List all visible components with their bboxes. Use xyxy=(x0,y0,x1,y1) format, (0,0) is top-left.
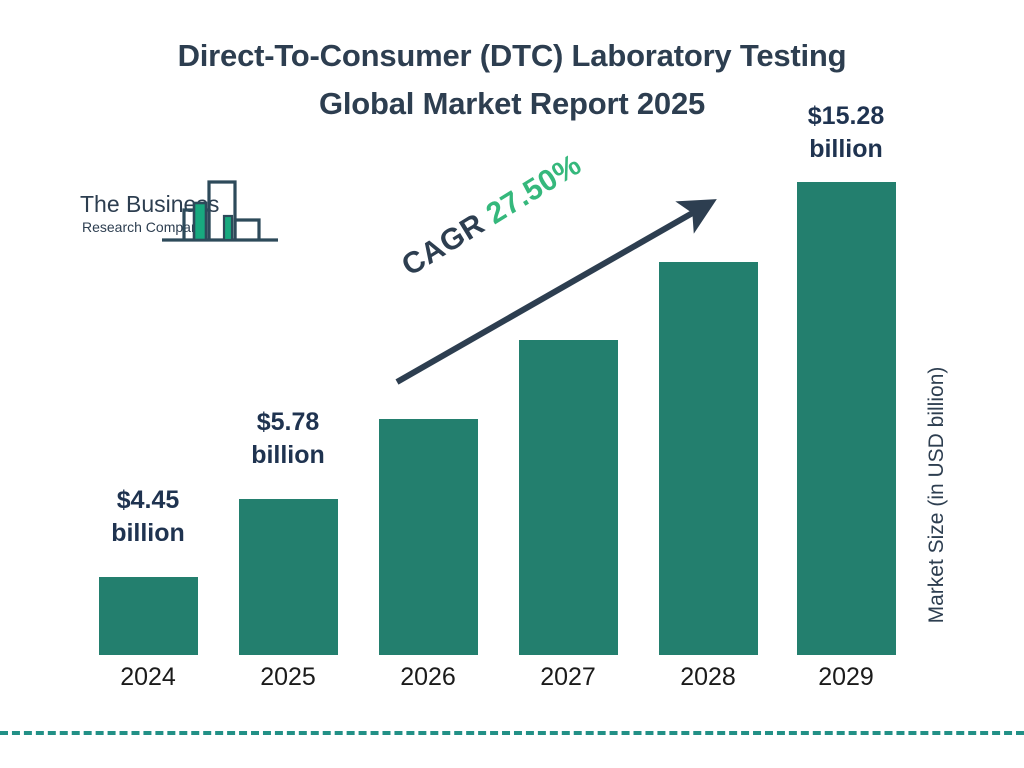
value-label-2025-unit: billion xyxy=(223,439,353,472)
x-axis-label-2029: 2029 xyxy=(781,660,911,694)
value-label-2024-amount: $4.45 xyxy=(83,484,213,517)
bar-2029 xyxy=(797,182,896,655)
bar-2028 xyxy=(659,262,758,655)
y-axis-title-text: Market Size (in USD billion) xyxy=(925,367,949,624)
x-axis-label-2027: 2027 xyxy=(503,660,633,694)
bar-2025 xyxy=(239,499,338,655)
x-axis-label-2024: 2024 xyxy=(83,660,213,694)
bar-2026 xyxy=(379,419,478,655)
bottom-divider xyxy=(0,731,1024,735)
value-label-2029: $15.28 billion xyxy=(781,100,911,166)
x-axis-label-2026: 2026 xyxy=(363,660,493,694)
bar-2024 xyxy=(99,577,198,655)
value-label-2029-amount: $15.28 xyxy=(781,100,911,133)
value-label-2025-amount: $5.78 xyxy=(223,406,353,439)
x-axis-label-2028: 2028 xyxy=(643,660,773,694)
chart-canvas: Direct-To-Consumer (DTC) Laboratory Test… xyxy=(0,0,1024,768)
value-label-2029-unit: billion xyxy=(781,133,911,166)
value-label-2025: $5.78 billion xyxy=(223,406,353,472)
value-label-2024-unit: billion xyxy=(83,517,213,550)
y-axis-title: Market Size (in USD billion) xyxy=(922,330,952,660)
x-axis-label-2025: 2025 xyxy=(223,660,353,694)
bar-2027 xyxy=(519,340,618,655)
plot-area: $4.45 billion $5.78 billion $15.28 billi… xyxy=(0,0,1024,768)
value-label-2024: $4.45 billion xyxy=(83,484,213,550)
